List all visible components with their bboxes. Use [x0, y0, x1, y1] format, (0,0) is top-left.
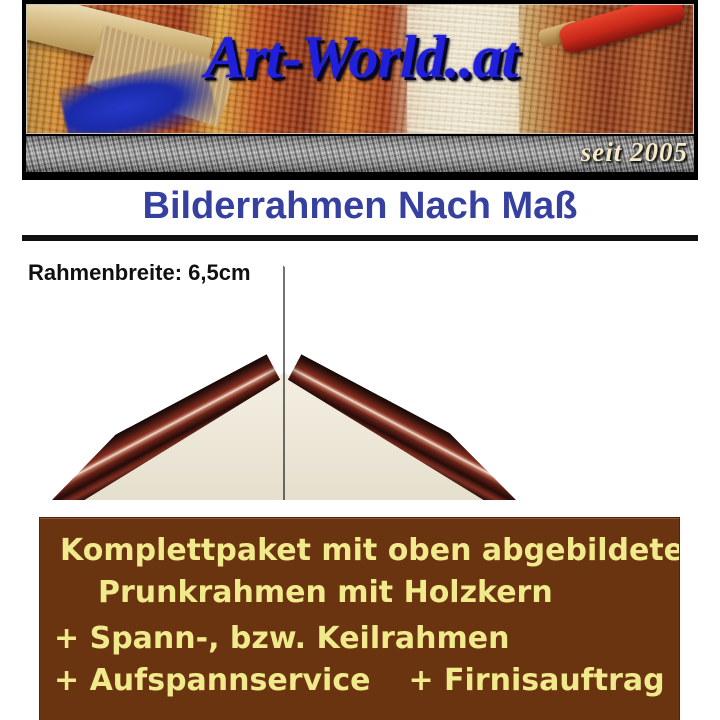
site-logo-text[interactable]: Art-World..at — [27, 27, 694, 87]
promo-line-3: + Spann-, bzw. Keilrahmen — [46, 618, 673, 660]
promo-line-4-item-1: + Aufspannservice — [54, 663, 370, 698]
promo-line-4-item-2: + Firnisauftrag — [408, 660, 664, 702]
frame-corner-clip — [52, 264, 516, 500]
page-title: Bilderrahmen Nach Maß — [0, 186, 720, 228]
title-divider — [22, 235, 698, 241]
promo-line-4: + Aufspannservice+ Firnisauftrag — [46, 660, 673, 702]
promo-line-1: Komplettpaket mit oben abgebildeten — [46, 530, 673, 572]
banner-artwork-image: Art-World..at — [26, 4, 694, 134]
frame-width-label: Rahmenbreite: 6,5cm — [28, 260, 251, 286]
promo-package-box: Komplettpaket mit oben abgebildeten Prun… — [40, 518, 679, 720]
site-banner: Art-World..at seit 2005 — [22, 0, 698, 180]
frame-sample-section: Rahmenbreite: 6,5cm — [0, 248, 720, 510]
product-listing-page: Art-World..at seit 2005 Bilderrahmen Nac… — [0, 0, 720, 720]
frame-corner-photo[interactable] — [52, 264, 516, 500]
frame-miter-seam — [283, 264, 285, 500]
banner-plaster-strip: seit 2005 — [26, 136, 694, 172]
promo-line-2: Prunkrahmen mit Holzkern — [46, 572, 673, 614]
since-year-tagline: seit 2005 — [581, 139, 688, 166]
